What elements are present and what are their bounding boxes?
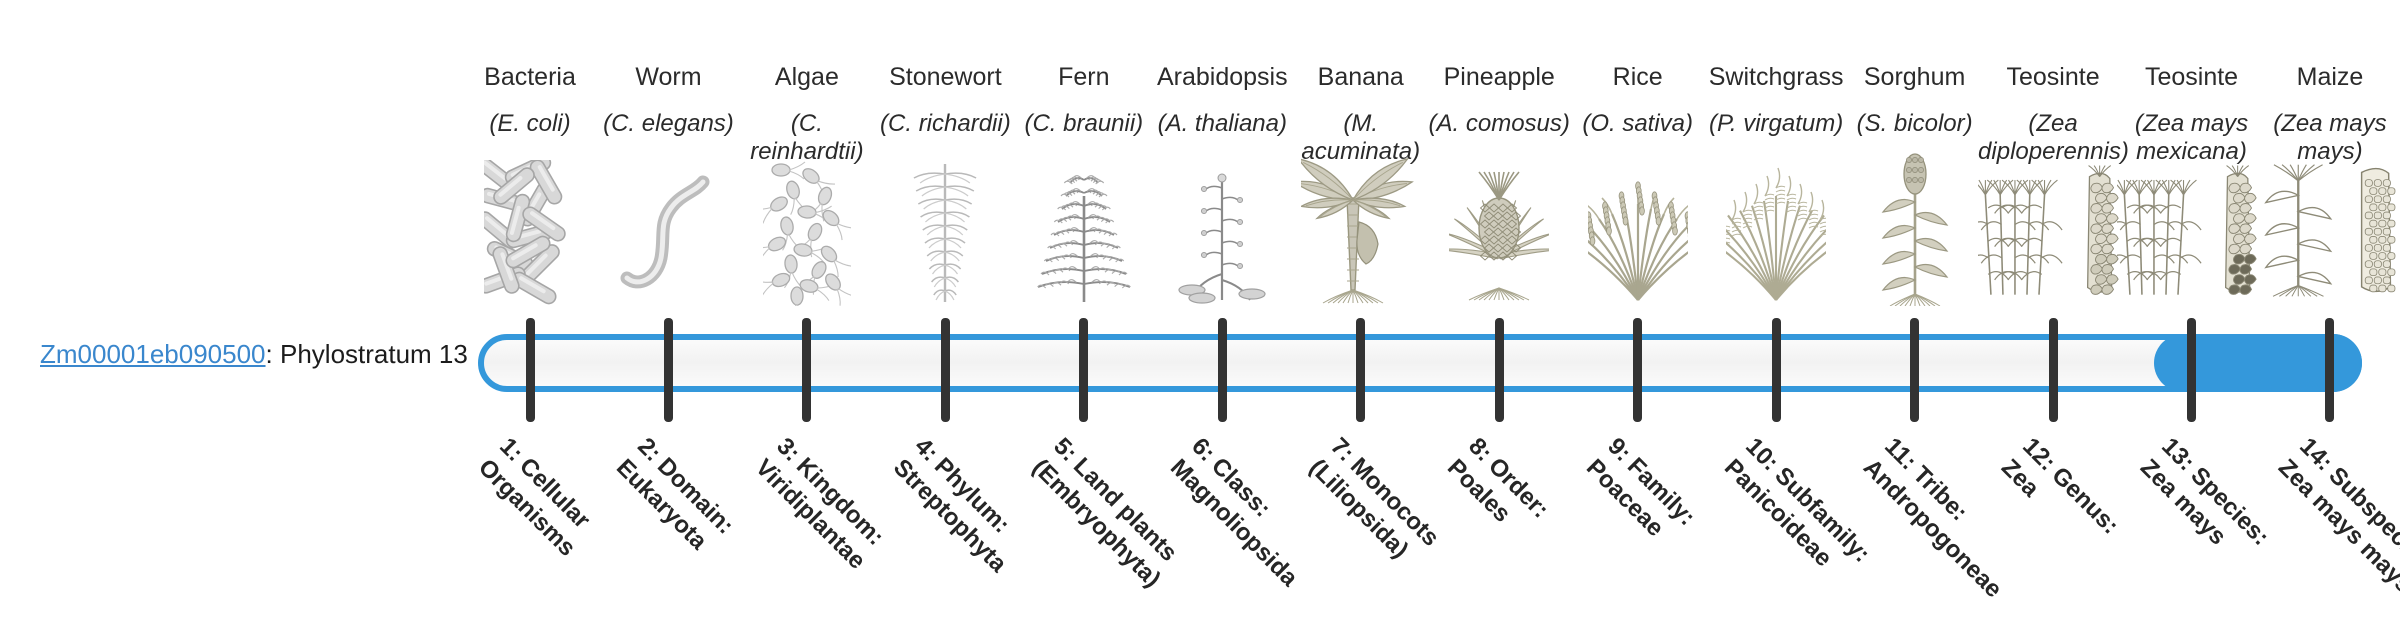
stratum-tick[interactable] — [1218, 318, 1227, 422]
stratum-tick[interactable] — [2187, 318, 2196, 422]
stratum-tick[interactable] — [2049, 318, 2058, 422]
phylostratum-figure: Zm00001eb090500: Phylostratum 13 Bacteri… — [0, 0, 2400, 580]
stratum-tick[interactable] — [2325, 318, 2334, 422]
stratum-tick[interactable] — [1910, 318, 1919, 422]
stratum-tick[interactable] — [941, 318, 950, 422]
stratum-tick[interactable] — [664, 318, 673, 422]
track-outline — [478, 334, 2362, 392]
stratum-tick[interactable] — [1495, 318, 1504, 422]
stratum-tick[interactable] — [802, 318, 811, 422]
stratum-tick[interactable] — [1079, 318, 1088, 422]
stratum-tick[interactable] — [1633, 318, 1642, 422]
stratum-tick[interactable] — [1772, 318, 1781, 422]
stratum-tick[interactable] — [1356, 318, 1365, 422]
stratum-tick[interactable] — [526, 318, 535, 422]
